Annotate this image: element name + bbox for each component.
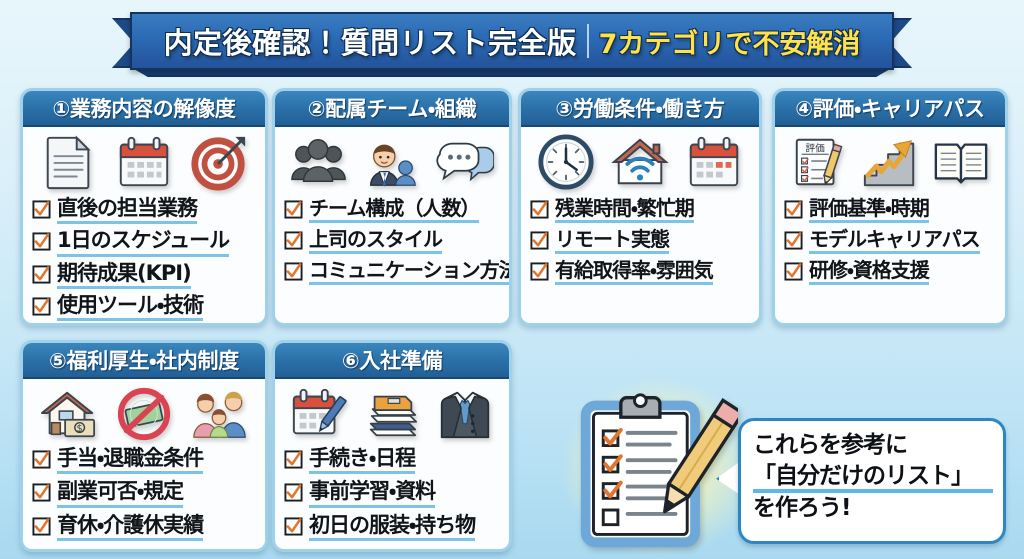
open-book-icon [932,133,990,191]
card-6-title: ⑥入社準備 [342,345,442,375]
list-item-label: 副業可否・規定 [57,478,183,507]
list-item-label: 期待成果(KPI) [57,260,191,289]
house-money-icon: $ [40,385,98,443]
suit-icon [436,385,494,443]
card-5-icon-row: $ [23,379,265,445]
card-4-header: ④評価・キャリアパス [775,91,1005,127]
evaluation-sheet-label: 評価 [805,142,825,154]
list-item-label: 使用ツール・技術 [57,292,203,321]
list-item-label: 1日のスケジュール [57,227,229,256]
list-item-label: 手当・退職金条件 [57,445,203,474]
svg-text:$: $ [76,423,82,434]
checkbox-checked-icon [284,517,303,536]
checkbox-checked-icon [284,450,303,469]
list-item-label: 残業時間・繁忙期 [555,195,694,223]
checkbox-checked-icon [32,450,51,469]
card-1-icon-row [23,127,265,193]
card-3-header: ③労働条件・働き方 [521,91,759,127]
list-item[interactable]: リモート実態 [530,226,750,254]
list-item-label: コミュニケーション方法 [309,257,512,285]
list-item-label: 評価基準・時期 [809,195,929,223]
checkbox-checked-icon [32,297,51,316]
list-item[interactable]: チーム構成（人数） [284,195,500,223]
list-item-label: 有給取得率・雰囲気 [555,257,713,285]
callout-bubble: これらを参考に 「自分だけのリスト」 を作ろう! [738,418,1006,544]
checkbox-checked-icon [284,231,303,250]
checkbox-checked-icon [284,200,303,219]
card-2-title: ②配属チーム・組織 [308,93,477,123]
card-1-header: ①業務内容の解像度 [23,91,265,127]
speech-bubble-icon [436,133,494,191]
list-item[interactable]: 評価基準・時期 [784,195,996,223]
checkbox-checked-icon [784,262,803,281]
list-item[interactable]: 副業可否・規定 [32,478,256,507]
card-3-items: 残業時間・繁忙期 リモート実態 有給取得率・雰囲気 [521,193,759,294]
category-card-4[interactable]: ④評価・キャリアパス 評価 [772,88,1008,326]
card-4-items: 評価基準・時期 モデルキャリアパス 研修・資格支援 [775,193,1005,294]
checkbox-checked-icon [32,265,51,284]
list-item[interactable]: 上司のスタイル [284,226,500,254]
list-item[interactable]: 直後の担当業務 [32,195,256,224]
checkbox-checked-icon [530,200,549,219]
checkbox-checked-icon [284,483,303,502]
checkbox-checked-icon [32,200,51,219]
list-item-label: 手続き・日程 [309,445,415,474]
card-5-header: ⑤福利厚生・社内制度 [23,343,265,379]
card-2-items: チーム構成（人数） 上司のスタイル コミュニケーション方法 [275,193,509,294]
category-card-6[interactable]: ⑥入社準備 [272,340,512,552]
checkbox-checked-icon [784,231,803,250]
list-item[interactable]: 研修・資格支援 [784,257,996,285]
list-item-label: 研修・資格支援 [809,257,929,285]
card-6-icon-row [275,379,509,445]
banner-body: 内定後確認！質問リスト完全版 7カテゴリで不安解消 [130,12,894,70]
title-banner: 内定後確認！質問リスト完全版 7カテゴリで不安解消 [0,12,1024,74]
businessman-icon [363,133,421,191]
list-item-label: チーム構成（人数） [309,195,479,223]
callout-line-1: これらを参考に [753,430,993,461]
list-item[interactable]: モデルキャリアパス [784,226,996,254]
card-2-header: ②配属チーム・組織 [275,91,509,127]
list-item-label: 事前学習・資料 [309,478,435,507]
checkbox-checked-icon [784,200,803,219]
card-5-items: 手当・退職金条件 副業可否・規定 育休・介護休実績 [23,445,265,551]
checkbox-checked-icon [32,517,51,536]
list-item[interactable]: 手続き・日程 [284,445,500,474]
target-icon [190,133,248,191]
callout-line-2: 「自分だけのリスト」 [753,461,993,493]
card-1-items: 直後の担当業務 1日のスケジュール 期待成果(KPI) 使用ツール・技術 [23,193,265,326]
category-card-2[interactable]: ②配属チーム・組織 [272,88,512,326]
callout-line-3: を作ろう! [753,493,993,524]
banner-separator [587,24,589,58]
clock-icon [537,133,595,191]
list-item[interactable]: 事前学習・資料 [284,478,500,507]
card-1-title: ①業務内容の解像度 [52,93,235,123]
list-item-label: モデルキャリアパス [809,226,980,254]
no-money-icon [115,385,173,443]
list-item-label: リモート実態 [555,226,669,254]
evaluation-sheet-icon: 評価 [790,133,848,191]
stairs-arrow-icon [861,133,919,191]
checkbox-checked-icon [32,232,51,251]
card-6-header: ⑥入社準備 [275,343,509,379]
list-item-label: 上司のスタイル [309,226,442,254]
card-5-title: ⑤福利厚生・社内制度 [49,345,239,375]
clipboard-pencil-icon [572,386,738,552]
list-item[interactable]: 1日のスケジュール [32,227,256,256]
list-item-label: 初日の服装・持ち物 [309,512,475,541]
list-item[interactable]: コミュニケーション方法 [284,257,500,285]
home-wifi-icon [611,133,669,191]
card-3-title: ③労働条件・働き方 [555,93,724,123]
calendar-pen-icon [290,385,348,443]
banner-main-title: 内定後確認！質問リスト完全版 [164,20,577,62]
list-item[interactable]: 手当・退職金条件 [32,445,256,474]
list-item[interactable]: 使用ツール・技術 [32,292,256,321]
people-group-icon [290,133,348,191]
list-item[interactable]: 初日の服装・持ち物 [284,512,500,541]
category-card-1[interactable]: ①業務内容の解像度 [20,88,268,326]
card-2-icon-row [275,127,509,193]
category-card-5[interactable]: ⑤福利厚生・社内制度 $ [20,340,268,552]
checkbox-checked-icon [530,231,549,250]
card-3-icon-row [521,127,759,193]
category-card-3[interactable]: ③労働条件・働き方 [518,88,762,326]
checkbox-checked-icon [530,262,549,281]
checkbox-checked-icon [32,483,51,502]
card-6-items: 手続き・日程 事前学習・資料 初日の服装・持ち物 [275,445,509,551]
calendar-icon [685,133,743,191]
books-stack-icon [363,385,421,443]
list-item[interactable]: 有給取得率・雰囲気 [530,257,750,285]
calendar-icon [115,133,173,191]
list-item[interactable]: 期待成果(KPI) [32,260,256,289]
list-item[interactable]: 育休・介護休実績 [32,512,256,541]
list-item-label: 育休・介護休実績 [57,512,203,541]
banner-accent-title: 7カテゴリで不安解消 [599,22,861,61]
card-4-icon-row: 評価 [775,127,1005,193]
list-item-label: 直後の担当業務 [57,195,197,224]
document-icon [40,133,98,191]
checkbox-checked-icon [284,262,303,281]
card-4-title: ④評価・キャリアパス [795,93,985,123]
infographic-canvas: 内定後確認！質問リスト完全版 7カテゴリで不安解消 ①業務内容の解像度 [0,0,1024,559]
family-icon [190,385,248,443]
list-item[interactable]: 残業時間・繁忙期 [530,195,750,223]
